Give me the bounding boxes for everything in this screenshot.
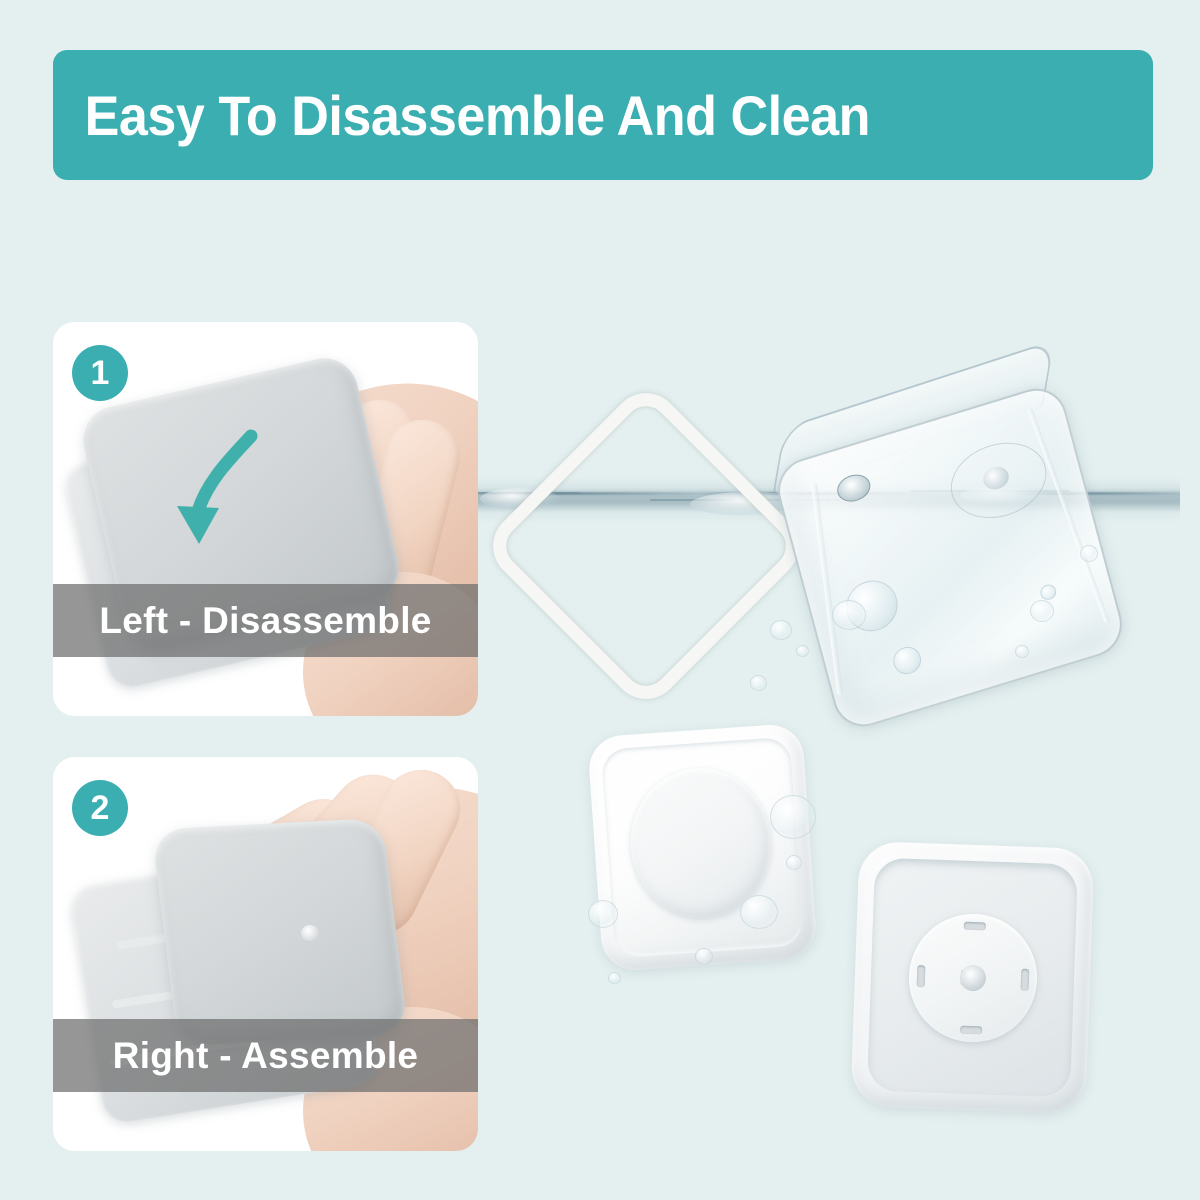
- page-title: Easy To Disassemble And Clean: [53, 83, 870, 148]
- lid-hub-slot: [916, 965, 925, 987]
- water-bubble: [770, 620, 792, 640]
- rotate-counterclockwise-arrow-icon: [163, 422, 283, 552]
- lid-hub-slot: [963, 921, 985, 930]
- water-bubble: [1030, 600, 1054, 622]
- lid-hub-slot: [1020, 968, 1029, 990]
- water-bubble: [832, 600, 866, 630]
- header-banner: Easy To Disassemble And Clean: [53, 50, 1153, 180]
- gray-lid: [152, 818, 409, 1046]
- water-bubble: [1080, 545, 1098, 562]
- lid-gear-center: [959, 964, 986, 991]
- water-bubble: [770, 795, 816, 839]
- white-lid-underside: [850, 841, 1094, 1114]
- water-bubble: [1015, 645, 1029, 658]
- container-valve: [834, 471, 873, 506]
- step-caption-1: Left - Disassemble: [99, 600, 431, 642]
- water-bubble: [608, 972, 621, 984]
- water-bubble: [796, 645, 809, 657]
- transparent-container-body: [771, 381, 1129, 735]
- step-number-1: 1: [91, 354, 110, 393]
- step-number-badge-2: 2: [72, 780, 128, 836]
- water-bubble: [786, 855, 802, 870]
- water-bubble: [695, 948, 713, 965]
- water-droplet: [1039, 583, 1058, 602]
- water-bubble: [750, 675, 767, 691]
- lid-cavity: [867, 858, 1078, 1098]
- step-card-2[interactable]: 2 Right - Assemble: [53, 757, 478, 1151]
- silicone-gasket-ring: [479, 379, 813, 713]
- water-bubble: [588, 900, 618, 928]
- white-lid-top: [587, 723, 818, 972]
- container-rib: [811, 483, 843, 695]
- step-caption-2: Right - Assemble: [113, 1035, 419, 1077]
- product-photo: [440, 300, 1180, 1170]
- lid-hub-slot: [960, 1025, 982, 1034]
- step-caption-bar-2: Right - Assemble: [53, 1019, 478, 1092]
- lid-center-nub: [301, 925, 319, 941]
- water-bubble: [740, 895, 778, 929]
- step-caption-bar-1: Left - Disassemble: [53, 584, 478, 657]
- step-number-badge-1: 1: [72, 345, 128, 401]
- step-number-2: 2: [91, 789, 110, 828]
- step-card-1[interactable]: 1 Left - Disassemble: [53, 322, 478, 716]
- water-droplet: [890, 643, 924, 677]
